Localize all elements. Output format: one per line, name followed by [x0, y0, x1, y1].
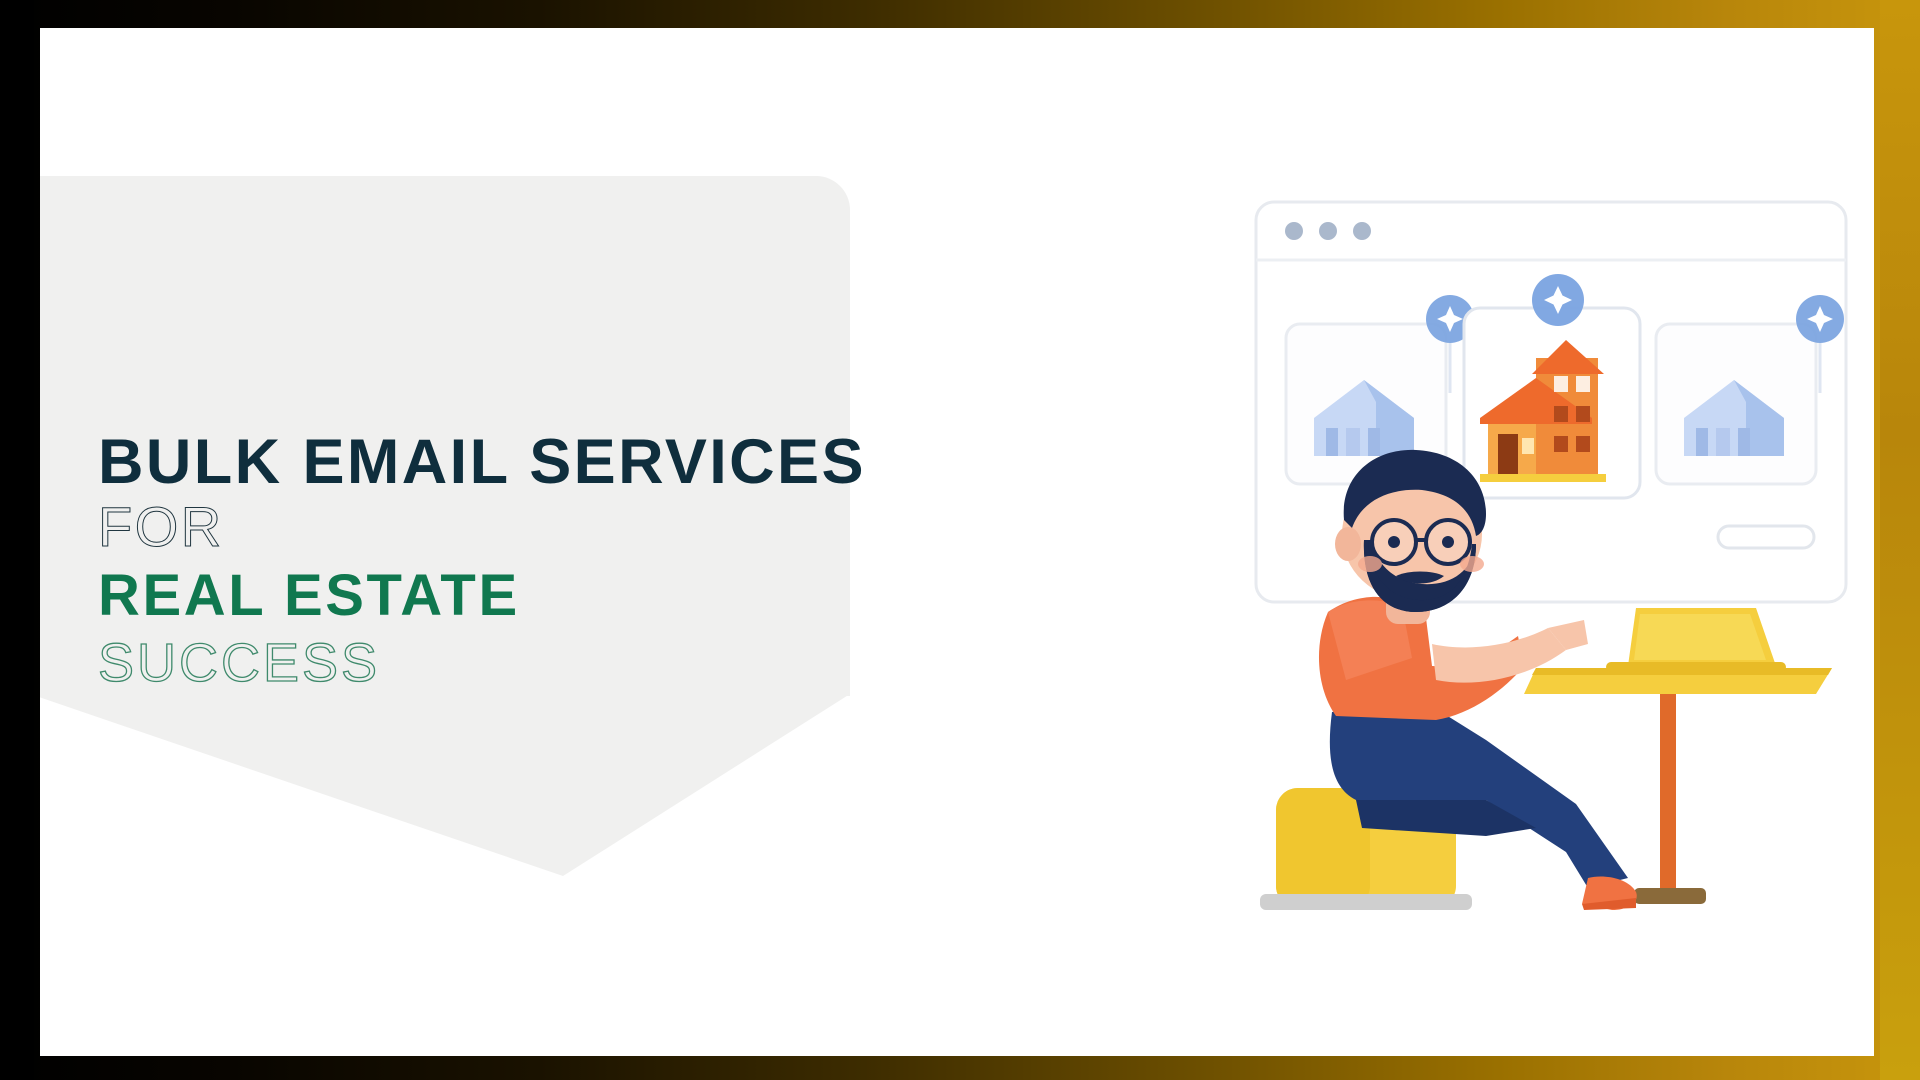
gradient-border-frame: BULK EMAIL SERVICES FOR REAL ESTATE SUCC… [0, 0, 1920, 1080]
real-estate-illustration [1236, 188, 1856, 928]
headline-line-4: SUCCESS [98, 633, 1158, 693]
desk-table [1524, 668, 1832, 904]
laptop [1606, 608, 1786, 672]
window-dot-2 [1319, 222, 1337, 240]
window-dot-3 [1353, 222, 1371, 240]
property-card-center [1464, 274, 1640, 498]
property-card-right [1656, 295, 1844, 484]
headline-block: BULK EMAIL SERVICES FOR REAL ESTATE SUCC… [98, 428, 1158, 693]
window-dot-1 [1285, 222, 1303, 240]
add-icon-center [1532, 274, 1584, 326]
headline-line-2: FOR [98, 496, 1158, 558]
headline-line-1: BULK EMAIL SERVICES [98, 428, 1158, 496]
headline-line-3: REAL ESTATE [98, 564, 1158, 629]
property-card-left [1286, 295, 1474, 484]
banner-canvas: BULK EMAIL SERVICES FOR REAL ESTATE SUCC… [40, 28, 1874, 1056]
shoe [1582, 877, 1637, 910]
search-bar-placeholder [1718, 526, 1814, 548]
